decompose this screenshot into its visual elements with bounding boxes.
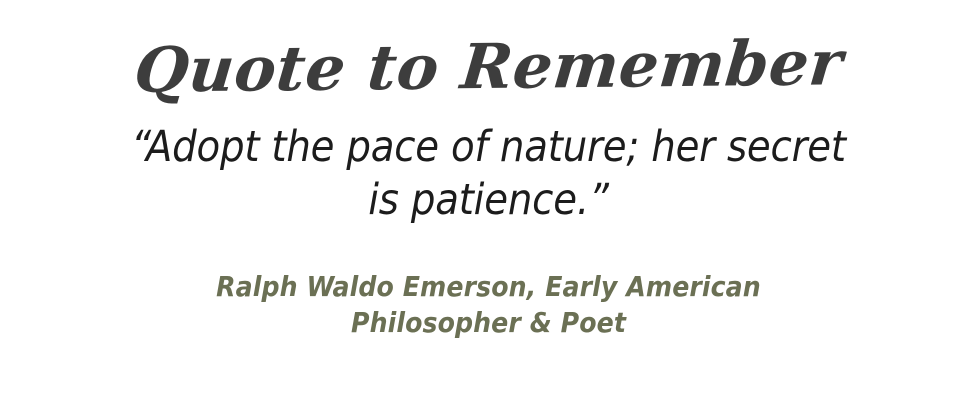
quote-card: Quote to Remember “Adopt the pace of nat… <box>0 0 977 408</box>
attribution-line: Philosopher & Poet <box>216 305 761 341</box>
quote-text: “Adopt the pace of nature; her secret is… <box>131 121 846 227</box>
quote-attribution: Ralph Waldo Emerson, Early American Phil… <box>216 269 761 341</box>
page-title: Quote to Remember <box>131 30 845 102</box>
attribution-line: Ralph Waldo Emerson, Early American <box>216 269 761 305</box>
quote-line: “Adopt the pace of nature; her secret <box>131 121 846 174</box>
quote-line: is patience.” <box>131 174 846 227</box>
